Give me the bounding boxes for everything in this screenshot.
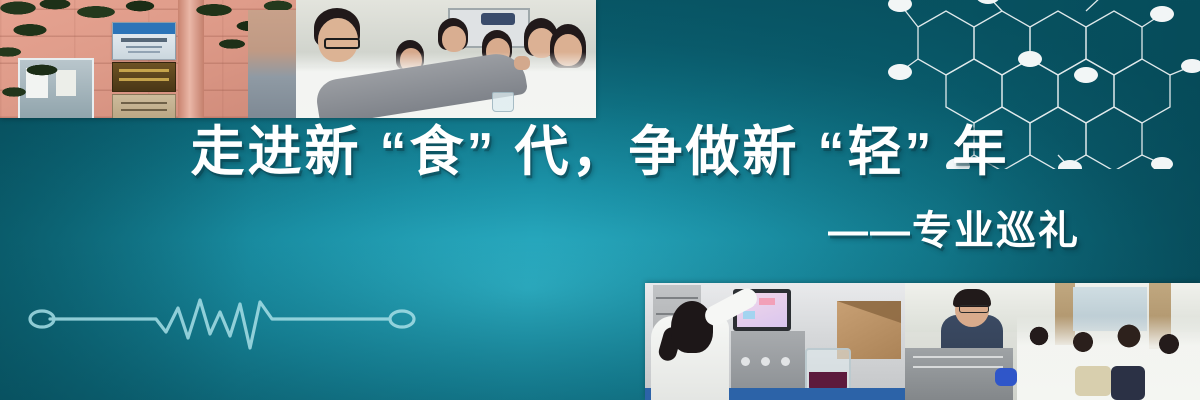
photo-campus-building: [0, 0, 296, 118]
photo-instrument-demo: [905, 283, 1200, 400]
photo-classroom-demo: [296, 0, 596, 118]
blue-glove: [995, 368, 1017, 386]
banner-root: 走进新 “食” 代，争做新 “轻” 年 ——专业巡礼: [0, 0, 1200, 400]
ecg-heartbeat-icon: [28, 292, 418, 362]
student-bag: [1075, 366, 1111, 396]
hexagon-lattice-icon: [870, 0, 1200, 169]
photo-band-top: [0, 0, 596, 118]
teacher-hand: [514, 56, 530, 70]
passerby-figure: [248, 10, 296, 118]
student-bag: [1111, 366, 1145, 400]
sample-beaker: [492, 92, 514, 112]
teacher-glasses: [324, 38, 360, 49]
photo-band-bottom: [645, 283, 1200, 400]
sub-title: ——专业巡礼: [828, 198, 1080, 256]
wall-fixture: [481, 13, 515, 25]
photo-lab-equipment: [645, 283, 905, 400]
teacher-glasses: [959, 305, 989, 313]
student-head: [442, 26, 466, 52]
lab-machine: [731, 331, 805, 392]
